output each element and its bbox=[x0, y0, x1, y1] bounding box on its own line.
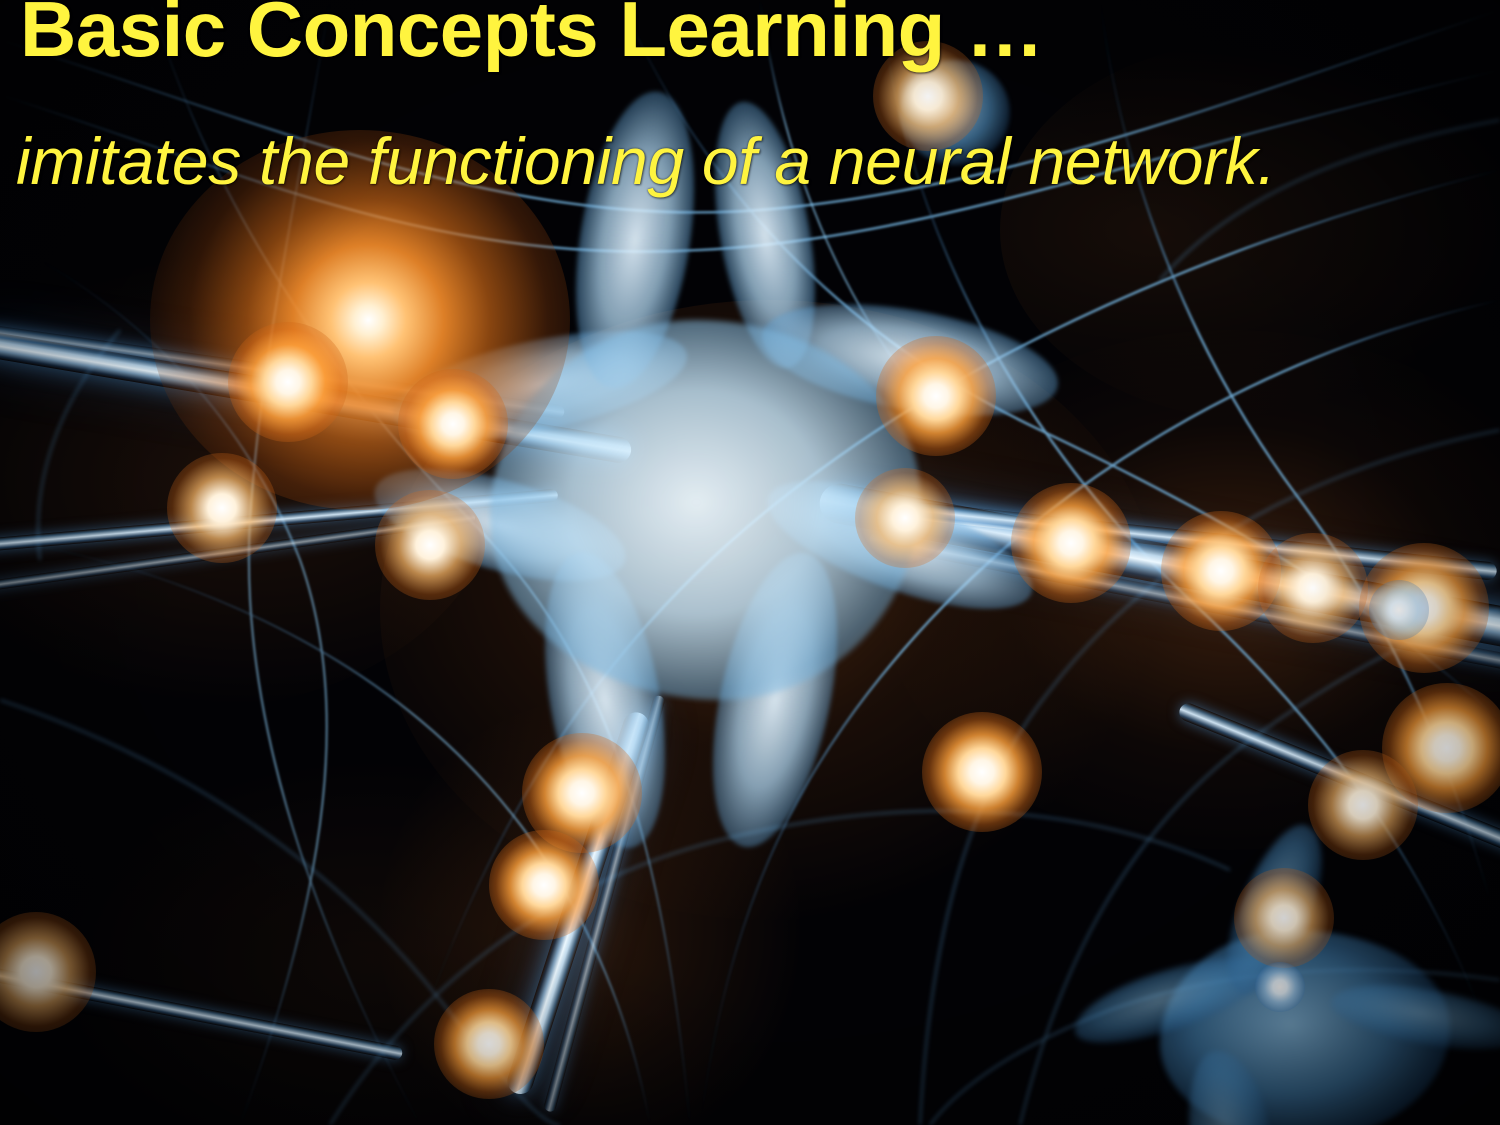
slide-subtitle: imitates the functioning of a neural net… bbox=[16, 128, 1276, 194]
presentation-slide: Basic Concepts Learning … imitates the f… bbox=[0, 0, 1500, 1125]
secondary-neuron-bottom-right bbox=[1130, 900, 1490, 1125]
slide-title: Basic Concepts Learning … bbox=[20, 0, 1043, 68]
